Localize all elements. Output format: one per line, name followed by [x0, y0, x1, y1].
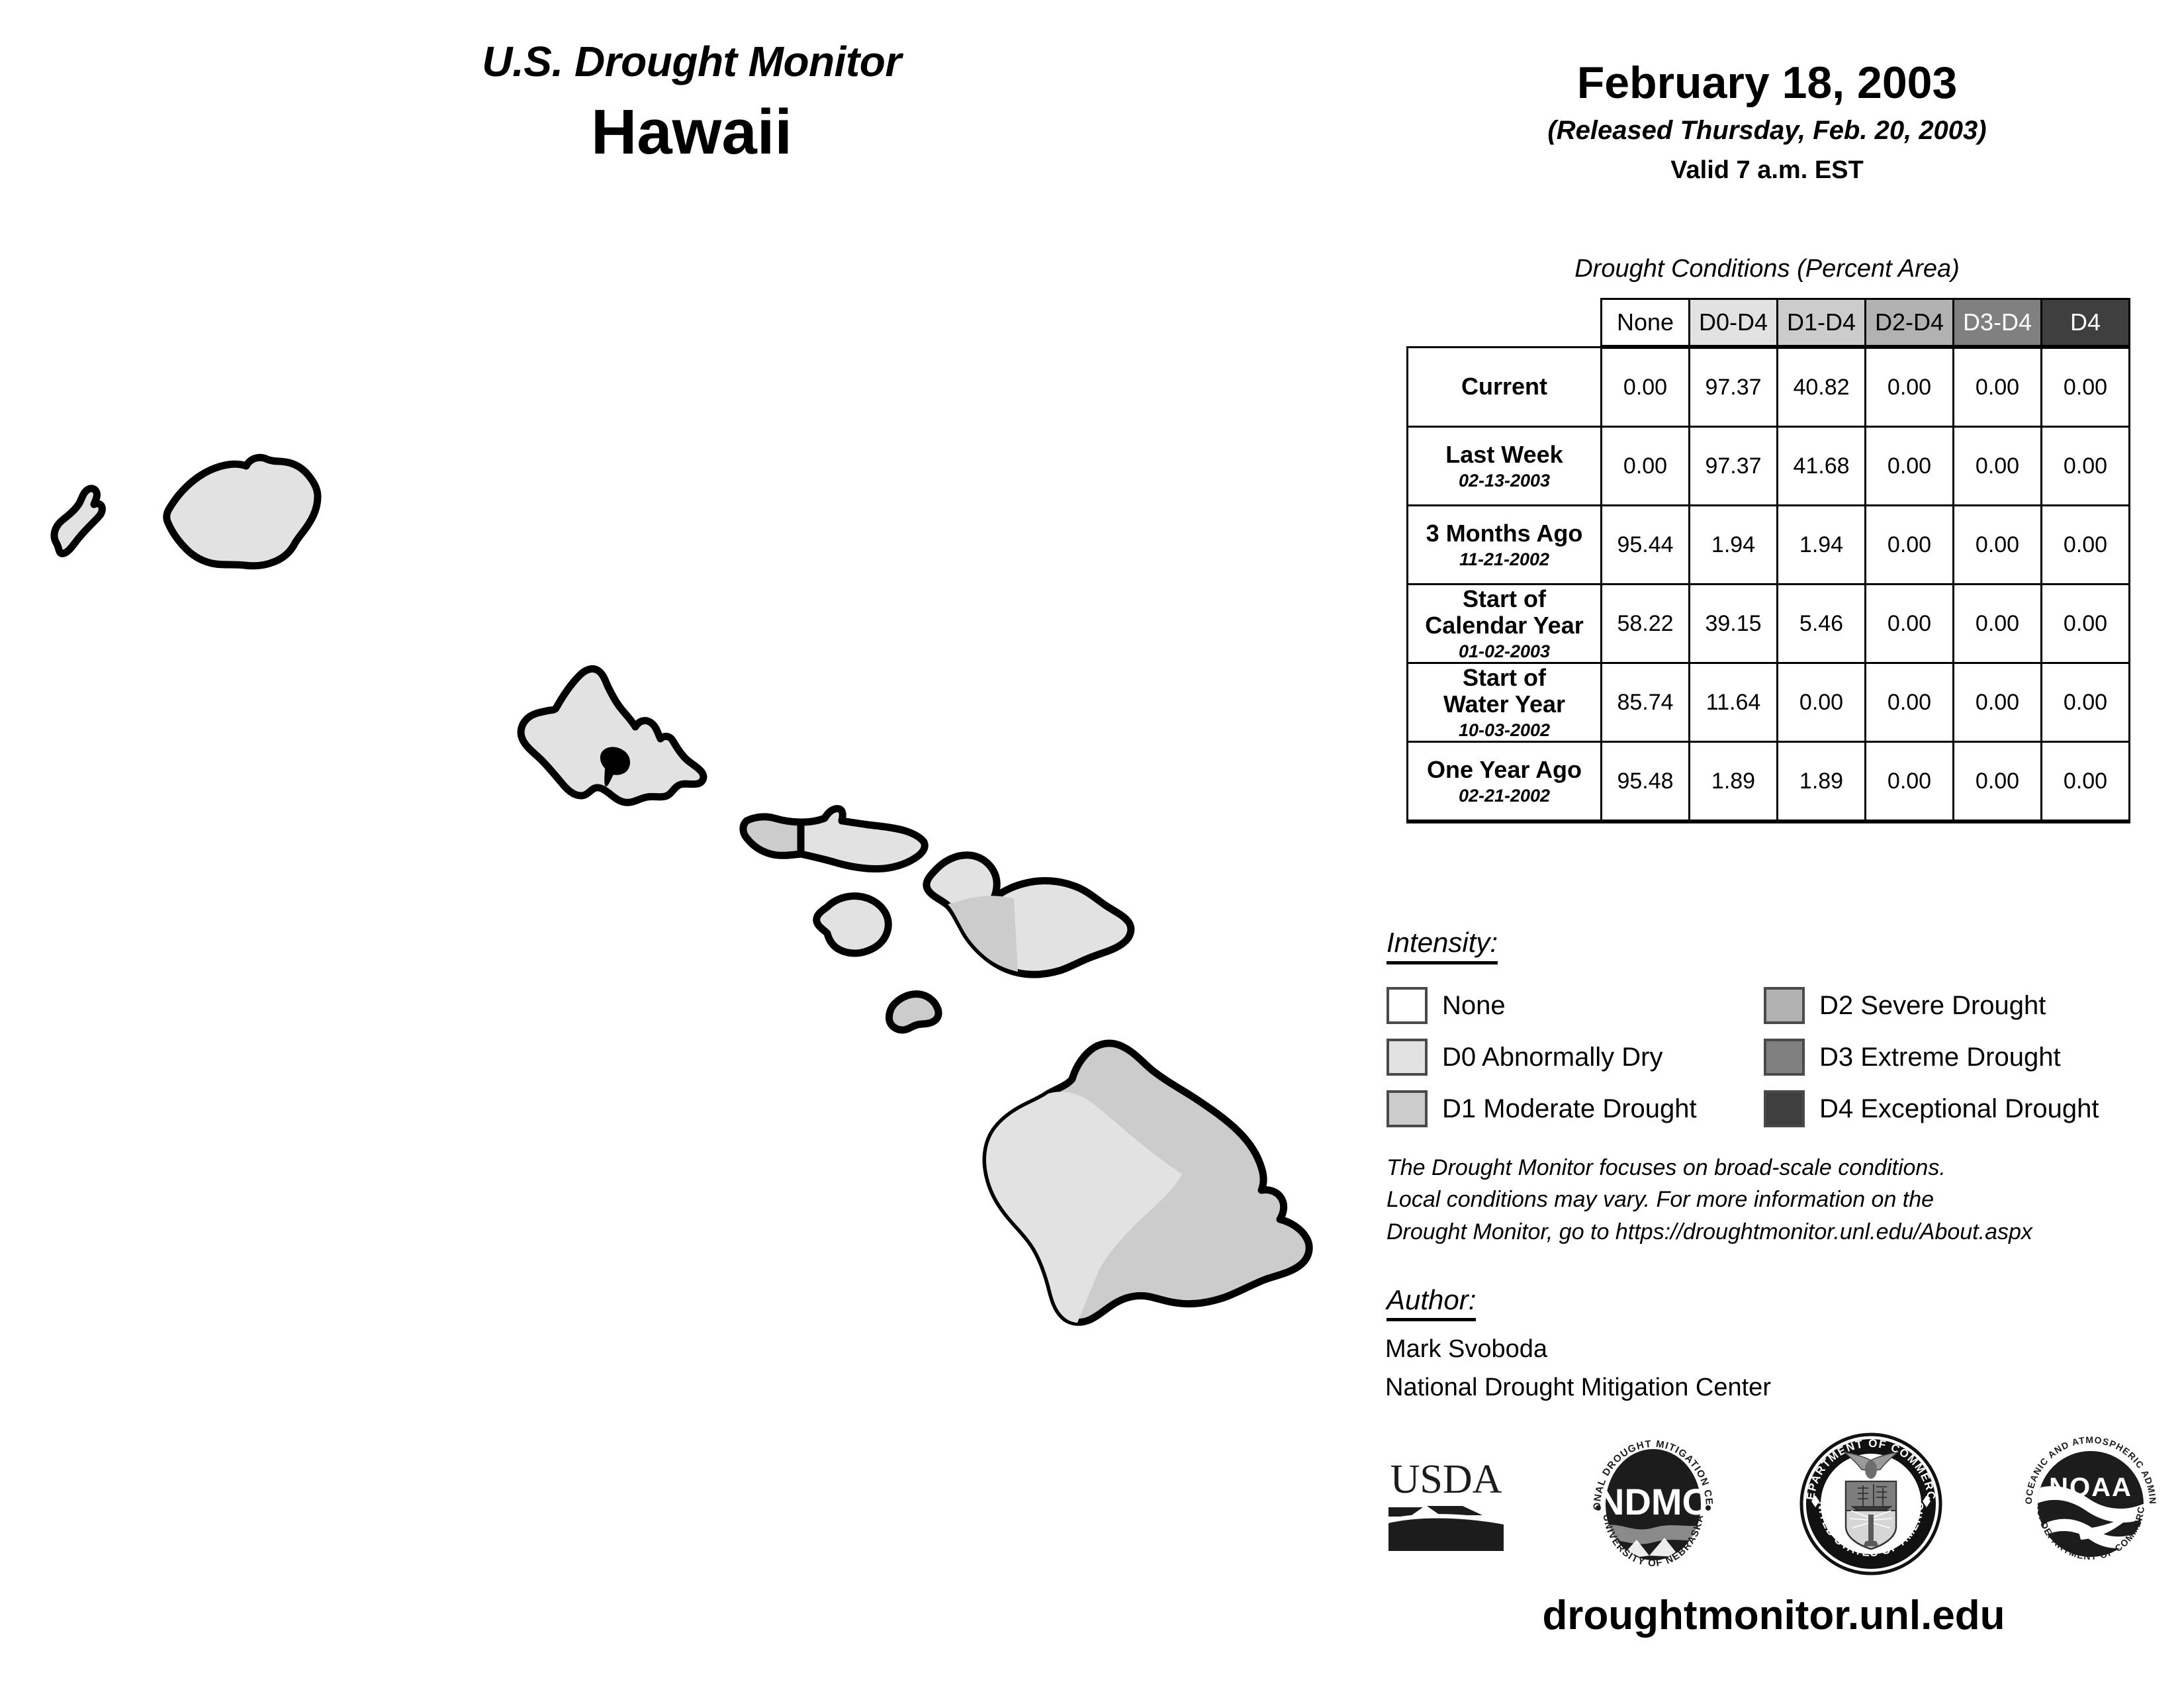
- cell-d2: 0.00: [1866, 742, 1954, 822]
- cell-d4: 0.00: [2042, 347, 2130, 427]
- island-molokai-d1: [743, 817, 801, 855]
- cell-d0: 97.37: [1690, 347, 1778, 427]
- island-maui-d1: [948, 896, 1018, 972]
- row-label-text: Start ofCalendar Year: [1425, 585, 1583, 639]
- cell-d2: 0.00: [1866, 427, 1954, 506]
- island-niihau: [54, 489, 102, 553]
- logo-row: USDA NDMC NATIONAL DROUGHT MITIGA: [1383, 1427, 2164, 1585]
- cell-d1: 1.89: [1778, 742, 1866, 822]
- hawaii-map: [40, 424, 1363, 1350]
- legend-swatch-d4: [1764, 1090, 1805, 1127]
- row-label-text: Start ofWater Year: [1443, 664, 1565, 718]
- ndmc-logo: NDMC NATIONAL DROUGHT MITIGATION CENTER …: [1580, 1430, 1726, 1582]
- legend-swatch-d1: [1387, 1090, 1428, 1127]
- legend-item-d1: D1 Moderate Drought: [1387, 1083, 1764, 1135]
- table-body: Current 0.00 97.37 40.82 0.00 0.00 0.00 …: [1408, 347, 2130, 821]
- table-row: Current 0.00 97.37 40.82 0.00 0.00 0.00: [1408, 347, 2130, 427]
- table-row: 3 Months Ago11-21-2002 95.44 1.94 1.94 0…: [1408, 506, 2130, 585]
- column-header-none: None: [1602, 299, 1690, 348]
- row-label-start-of-calendar-year: Start ofCalendar Year01-02-2003: [1408, 585, 1602, 663]
- department-of-commerce-seal: DEPARTMENT OF COMMERCE UNITED STATES OF …: [1797, 1430, 1946, 1582]
- legend-swatch-d0: [1387, 1039, 1428, 1076]
- cell-none: 95.44: [1602, 506, 1690, 585]
- author-name: Mark Svoboda: [1385, 1331, 2166, 1369]
- title-block: U.S. Drought Monitor Hawaii: [357, 40, 1026, 167]
- cell-d1: 0.00: [1778, 663, 1866, 742]
- cell-d4: 0.00: [2042, 663, 2130, 742]
- row-label-text: Last Week: [1445, 441, 1563, 468]
- table-row: One Year Ago02-21-2002 95.48 1.89 1.89 0…: [1408, 742, 2130, 822]
- row-sub-date: 01-02-2003: [1408, 641, 1600, 661]
- cell-none: 58.22: [1602, 585, 1690, 663]
- cell-d0: 97.37: [1690, 427, 1778, 506]
- row-label-text: 3 Months Ago: [1426, 520, 1583, 547]
- row-label-text: Current: [1461, 373, 1547, 400]
- column-header-d4: D4: [2042, 299, 2130, 348]
- cell-d0: 1.94: [1690, 506, 1778, 585]
- usda-logo: USDA: [1383, 1452, 1509, 1561]
- cell-d1: 40.82: [1778, 347, 1866, 427]
- cell-none: 85.74: [1602, 663, 1690, 742]
- legend-swatch-d2: [1764, 987, 1805, 1024]
- author-affiliation: National Drought Mitigation Center: [1385, 1369, 2166, 1407]
- cell-d3: 0.00: [1954, 347, 2042, 427]
- column-header-d0: D0-D4: [1690, 299, 1778, 348]
- table-row: Start ofCalendar Year01-02-2003 58.22 39…: [1408, 585, 2130, 663]
- noaa-logo: NOAA NATIONAL OCEANIC AND ATMOSPHERIC AD…: [2017, 1430, 2164, 1582]
- legend-label-d2: D2 Severe Drought: [1819, 991, 2046, 1021]
- cell-d4: 0.00: [2042, 742, 2130, 822]
- legend-item-d0: D0 Abnormally Dry: [1387, 1031, 1764, 1083]
- column-header-d1: D1-D4: [1778, 299, 1866, 348]
- cell-d3: 0.00: [1954, 427, 2042, 506]
- cell-d4: 0.00: [2042, 506, 2130, 585]
- valid-time: Valid 7 a.m. EST: [1383, 156, 2151, 185]
- author-block: Mark Svoboda National Drought Mitigation…: [1385, 1331, 2166, 1407]
- cell-none: 0.00: [1602, 427, 1690, 506]
- cell-d0: 39.15: [1690, 585, 1778, 663]
- cell-none: 0.00: [1602, 347, 1690, 427]
- release-date: (Released Thursday, Feb. 20, 2003): [1383, 116, 2151, 146]
- cell-d0: 11.64: [1690, 663, 1778, 742]
- row-sub-date: 02-21-2002: [1408, 786, 1600, 806]
- row-label-one-year-ago: One Year Ago02-21-2002: [1408, 742, 1602, 822]
- cell-d3: 0.00: [1954, 585, 2042, 663]
- cell-none: 95.48: [1602, 742, 1690, 822]
- row-label-text: One Year Ago: [1427, 756, 1582, 783]
- cell-d2: 0.00: [1866, 506, 1954, 585]
- legend-label-d4: D4 Exceptional Drought: [1819, 1094, 2099, 1124]
- intensity-legend: None D2 Severe Drought D0 Abnormally Dry…: [1387, 980, 2154, 1135]
- cell-d1: 41.68: [1778, 427, 1866, 506]
- row-label-last-week: Last Week02-13-2003: [1408, 427, 1602, 506]
- cell-d1: 1.94: [1778, 506, 1866, 585]
- state-title: Hawaii: [357, 97, 1026, 167]
- legend-swatch-d3: [1764, 1039, 1805, 1076]
- island-kauai: [167, 457, 318, 566]
- row-label-start-of-water-year: Start ofWater Year10-03-2002: [1408, 663, 1602, 742]
- table-corner-cell: [1408, 299, 1602, 348]
- valid-date: February 18, 2003: [1383, 60, 2151, 107]
- legend-item-d4: D4 Exceptional Drought: [1764, 1083, 2154, 1135]
- island-lanai: [817, 896, 889, 953]
- cell-d2: 0.00: [1866, 347, 1954, 427]
- svg-text:NDMC: NDMC: [1598, 1481, 1709, 1523]
- cell-d3: 0.00: [1954, 742, 2042, 822]
- cell-d4: 0.00: [2042, 427, 2130, 506]
- table-row: Last Week02-13-2003 0.00 97.37 41.68 0.0…: [1408, 427, 2130, 506]
- svg-text:USDA: USDA: [1390, 1457, 1502, 1502]
- cell-d1: 5.46: [1778, 585, 1866, 663]
- legend-label-d0: D0 Abnormally Dry: [1442, 1043, 1662, 1072]
- footer-url: droughtmonitor.unl.edu: [1383, 1592, 2164, 1639]
- cell-d3: 0.00: [1954, 506, 2042, 585]
- column-header-d3: D3-D4: [1954, 299, 2042, 348]
- island-kahoolawe: [889, 994, 938, 1030]
- disclaimer-text: The Drought Monitor focuses on broad-sca…: [1387, 1152, 2167, 1248]
- author-heading: Author:: [1387, 1284, 1476, 1321]
- table-row: Start ofWater Year10-03-2002 85.74 11.64…: [1408, 663, 2130, 742]
- disclaimer-line-3: Drought Monitor, go to https://droughtmo…: [1387, 1216, 2167, 1248]
- column-header-d2: D2-D4: [1866, 299, 1954, 348]
- row-label-current: Current: [1408, 347, 1602, 427]
- disclaimer-line-1: The Drought Monitor focuses on broad-sca…: [1387, 1152, 2167, 1184]
- legend-label-d1: D1 Moderate Drought: [1442, 1094, 1697, 1124]
- intensity-heading: Intensity:: [1387, 927, 1498, 964]
- page-title: U.S. Drought Monitor: [357, 40, 1026, 84]
- drought-conditions-table: None D0-D4 D1-D4 D2-D4 D3-D4 D4 Current …: [1406, 298, 2130, 823]
- legend-label-d3: D3 Extreme Drought: [1819, 1043, 2061, 1072]
- row-sub-date: 02-13-2003: [1408, 471, 1600, 491]
- cell-d4: 0.00: [2042, 585, 2130, 663]
- date-block: February 18, 2003 (Released Thursday, Fe…: [1383, 60, 2151, 185]
- table-header-row: None D0-D4 D1-D4 D2-D4 D3-D4 D4: [1408, 299, 2130, 348]
- cell-d2: 0.00: [1866, 585, 1954, 663]
- legend-item-d2: D2 Severe Drought: [1764, 980, 2154, 1031]
- legend-item-d3: D3 Extreme Drought: [1764, 1031, 2154, 1083]
- island-oahu: [521, 669, 704, 802]
- cell-d0: 1.89: [1690, 742, 1778, 822]
- legend-label-none: None: [1442, 991, 1506, 1021]
- cell-d3: 0.00: [1954, 663, 2042, 742]
- island-molokai-d0: [801, 809, 925, 869]
- row-sub-date: 11-21-2002: [1408, 549, 1600, 569]
- cell-d2: 0.00: [1866, 663, 1954, 742]
- svg-text:NOAA: NOAA: [2049, 1473, 2132, 1502]
- disclaimer-line-2: Local conditions may vary. For more info…: [1387, 1184, 2167, 1215]
- row-sub-date: 10-03-2002: [1408, 720, 1600, 740]
- legend-item-none: None: [1387, 980, 1764, 1031]
- table-caption: Drought Conditions (Percent Area): [1383, 255, 2151, 283]
- row-label-3-months-ago: 3 Months Ago11-21-2002: [1408, 506, 1602, 585]
- legend-swatch-none: [1387, 987, 1428, 1024]
- table-header: None D0-D4 D1-D4 D2-D4 D3-D4 D4: [1408, 299, 2130, 348]
